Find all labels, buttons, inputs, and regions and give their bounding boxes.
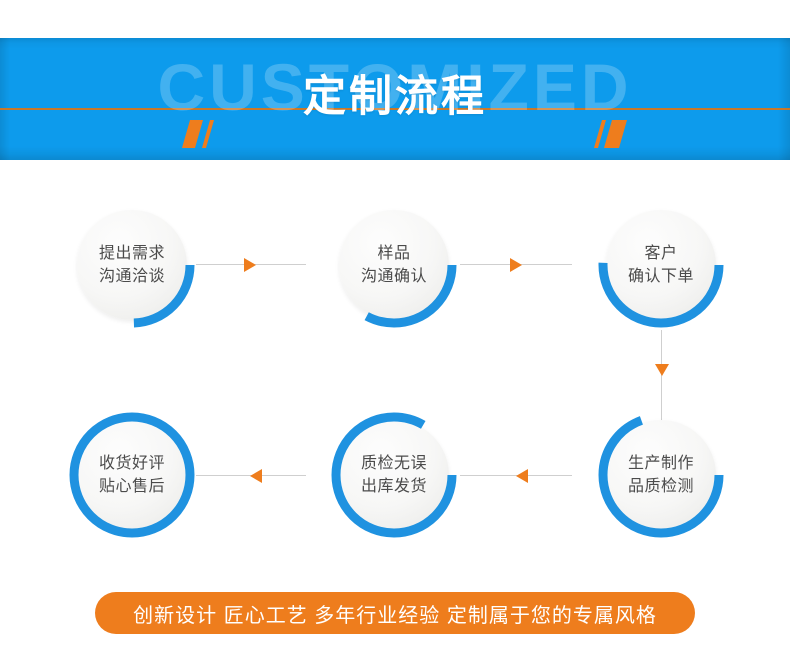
step-label-line2: 贴心售后 (99, 475, 165, 498)
flow-step-1[interactable]: 提出需求 沟通洽谈 (68, 201, 196, 329)
flow-step-6[interactable]: 收货好评 贴心售后 (68, 411, 196, 539)
slash-thick-icon (604, 120, 627, 148)
flow-step-4[interactable]: 生产制作 品质检测 (597, 411, 725, 539)
step-label-line1: 生产制作 (628, 452, 694, 475)
step-label: 生产制作 品质检测 (597, 411, 725, 539)
banner-decoration-left (186, 120, 232, 148)
step-label-line2: 品质检测 (628, 475, 694, 498)
arrow-step4-to-step5-icon (516, 469, 528, 483)
step-label-line2: 沟通确认 (361, 265, 427, 288)
step-label: 质检无误 出库发货 (330, 411, 458, 539)
step-label-line2: 确认下单 (628, 265, 694, 288)
step-label-line2: 沟通洽谈 (99, 265, 165, 288)
step-label: 样品 沟通确认 (330, 201, 458, 329)
step-label-line1: 收货好评 (99, 452, 165, 475)
footer-slogan-banner: 创新设计 匠心工艺 多年行业经验 定制属于您的专属风格 (95, 592, 695, 634)
step-label: 客户 确认下单 (597, 201, 725, 329)
step-label: 提出需求 沟通洽谈 (68, 201, 196, 329)
slash-thin-icon (202, 120, 214, 148)
arrow-step1-to-step2-icon (244, 258, 256, 272)
banner-decoration-right (594, 120, 640, 148)
step-label: 收货好评 贴心售后 (68, 411, 196, 539)
step-label-line1: 客户 (644, 242, 677, 265)
step-label-line1: 样品 (377, 242, 410, 265)
step-label-line2: 出库发货 (361, 475, 427, 498)
process-flow-diagram: 提出需求 沟通洽谈 样品 沟通确认 客户 确认下单 生产制作 品质检测 (0, 160, 790, 580)
flow-step-2[interactable]: 样品 沟通确认 (330, 201, 458, 329)
arrow-step5-to-step6-icon (250, 469, 262, 483)
flow-step-5[interactable]: 质检无误 出库发货 (330, 411, 458, 539)
flow-step-3[interactable]: 客户 确认下单 (597, 201, 725, 329)
header-banner: CUSTOMIZED 定制流程 (0, 38, 790, 160)
step-label-line1: 提出需求 (99, 242, 165, 265)
footer-slogan-text: 创新设计 匠心工艺 多年行业经验 定制属于您的专属风格 (133, 599, 657, 628)
page-title: 定制流程 (0, 76, 790, 119)
arrow-step2-to-step3-icon (510, 258, 522, 272)
step-label-line1: 质检无误 (361, 452, 427, 475)
arrow-step3-to-step4-icon (655, 364, 669, 376)
slash-thick-icon (182, 120, 203, 148)
